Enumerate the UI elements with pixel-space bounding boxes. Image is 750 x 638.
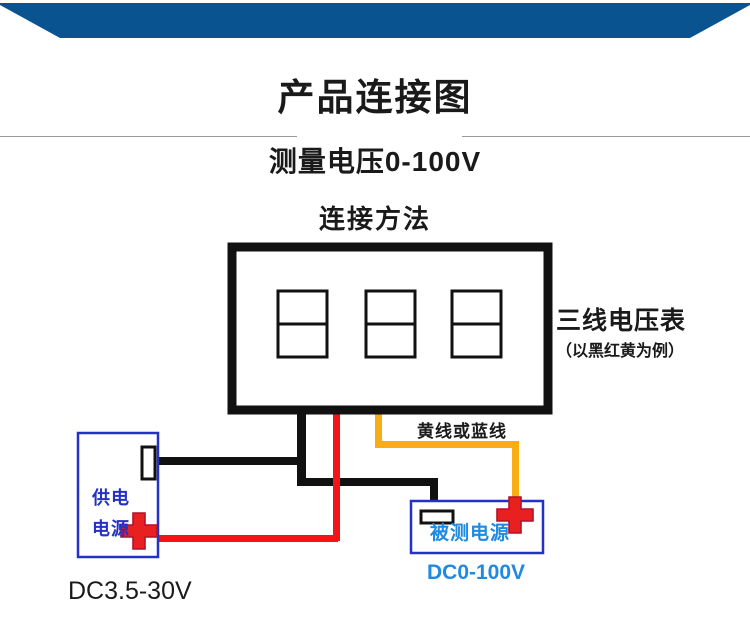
- wire-color-note: 黄线或蓝线: [417, 423, 507, 441]
- black-wire: [148, 408, 438, 506]
- meter-digit-2: [366, 291, 415, 357]
- voltmeter-sublabel: （以黑红黄为例）: [556, 344, 684, 361]
- voltmeter-label: 三线电压表: [556, 308, 686, 334]
- load-voltage-range: DC0-100V: [427, 562, 525, 584]
- load-negative-terminal: [421, 511, 453, 523]
- red-wire: [138, 408, 340, 542]
- product-connection-diagram-page: 产品连接图 测量电压0-100V 连接方法: [0, 0, 750, 638]
- supply-label-line2: 电源: [92, 520, 130, 539]
- voltmeter-body: [232, 247, 548, 410]
- meter-digit-1: [278, 291, 327, 357]
- supply-voltage-range: DC3.5-30V: [68, 578, 192, 604]
- supply-negative-terminal: [142, 447, 155, 479]
- load-label: 被测电源: [430, 524, 510, 544]
- meter-digit-3: [452, 291, 501, 357]
- supply-label-line1: 供电: [92, 489, 130, 508]
